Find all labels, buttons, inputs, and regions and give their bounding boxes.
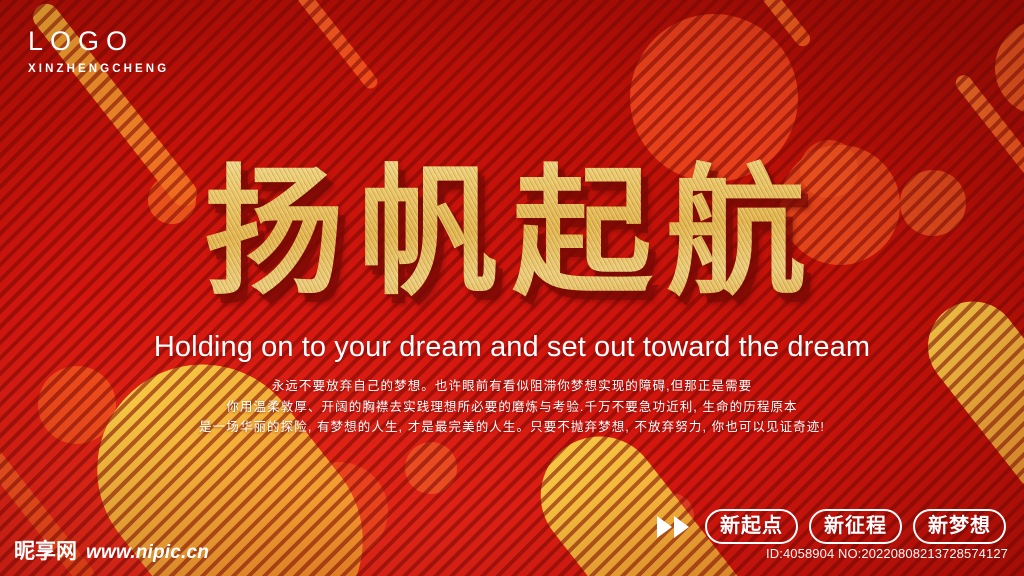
tag-new-dream[interactable]: 新梦想	[913, 509, 1006, 544]
headline-title: 扬帆起航	[0, 155, 1024, 312]
logo-subtitle: XINZHENGCHENG	[28, 64, 169, 76]
play-arrow-icon-1	[657, 516, 672, 538]
logo-title: LOGO	[28, 28, 169, 55]
bar-top-mid	[288, 0, 380, 91]
tag-row: 新起点 新征程 新梦想	[657, 509, 1006, 544]
bar-top-right-a	[709, 0, 813, 49]
circle-top-far-right	[995, 20, 1024, 116]
body-paragraph: 永远不要放弃自己的梦想。也许眼前有看似阻滞你梦想实现的障碍,但那正是需要你用温柔…	[0, 376, 1024, 438]
tag-new-journey[interactable]: 新征程	[809, 509, 902, 544]
paragraph-line: 是一场华丽的探险, 有梦想的人生, 才是最完美的人生。只要不抛弃梦想, 不放弃努…	[0, 417, 1024, 438]
paragraph-line: 你用温柔敦厚、开阔的胸襟去实践理想所必要的磨炼与考验.千万不要急功近利, 生命的…	[0, 397, 1024, 418]
logo-block: LOGO XINZHENGCHENG	[28, 28, 169, 76]
paragraph-line: 永远不要放弃自己的梦想。也许眼前有看似阻滞你梦想实现的障碍,但那正是需要	[0, 376, 1024, 397]
poster-canvas: LOGO XINZHENGCHENG 扬帆起航 Holding on to yo…	[0, 0, 1024, 576]
play-arrow-icon-2	[674, 516, 689, 538]
watermark: 昵享网 www.nipic.cn	[14, 541, 209, 562]
watermark-brand: 昵享网	[14, 541, 77, 562]
asset-id-line: ID:4058904 NO:20220808213728574127	[766, 547, 1008, 560]
english-subtitle: Holding on to your dream and set out tow…	[0, 333, 1024, 362]
double-arrow-icon	[657, 516, 689, 538]
tag-new-start[interactable]: 新起点	[705, 509, 798, 544]
circle-lower-center	[405, 442, 457, 494]
watermark-url: www.nipic.cn	[86, 543, 209, 562]
circle-lower-mid	[290, 462, 388, 560]
